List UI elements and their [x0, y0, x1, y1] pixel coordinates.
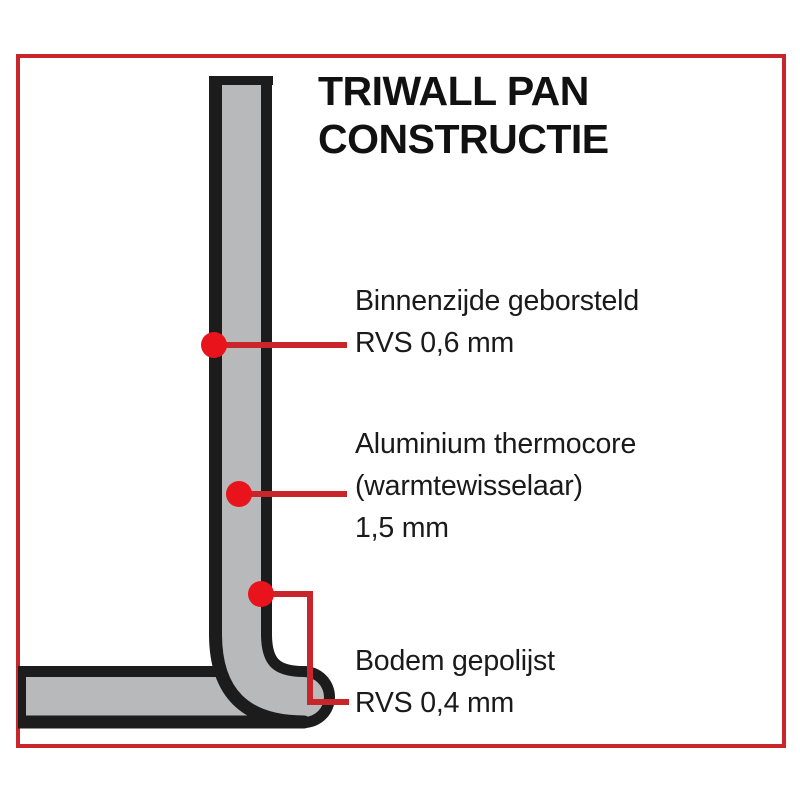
page-title: TRIWALL PAN CONSTRUCTIE [318, 68, 778, 163]
wall-top-cap [209, 76, 273, 85]
callout-label-line: Bodem gepolijst [355, 641, 555, 683]
diagram-canvas: TRIWALL PAN CONSTRUCTIE Binnenzijde gebo… [0, 0, 800, 800]
callout-label-line: RVS 0,4 mm [355, 683, 555, 725]
callout-label-inner-steel: Binnenzijde geborsteld RVS 0,6 mm [355, 281, 639, 365]
callout-label-line: RVS 0,6 mm [355, 323, 639, 365]
title-line-2: CONSTRUCTIE [318, 116, 778, 164]
callout-label-line: (warmtewisselaar) [355, 466, 636, 508]
callout-dot-aluminium[interactable] [226, 481, 252, 507]
callout-label-line: Aluminium thermocore [355, 424, 636, 466]
callout-label-outer-steel: Bodem gepolijst RVS 0,4 mm [355, 641, 555, 725]
base-left-cap [18, 668, 26, 728]
callout-label-line: 1,5 mm [355, 508, 636, 550]
pan-wall-group [18, 76, 308, 728]
callout-dot-inner-steel[interactable] [201, 332, 227, 358]
title-line-1: TRIWALL PAN [318, 68, 778, 116]
callout-label-aluminium: Aluminium thermocore (warmtewisselaar) 1… [355, 424, 636, 550]
callout-label-line: Binnenzijde geborsteld [355, 281, 639, 323]
callout-dot-outer-steel[interactable] [248, 581, 274, 607]
